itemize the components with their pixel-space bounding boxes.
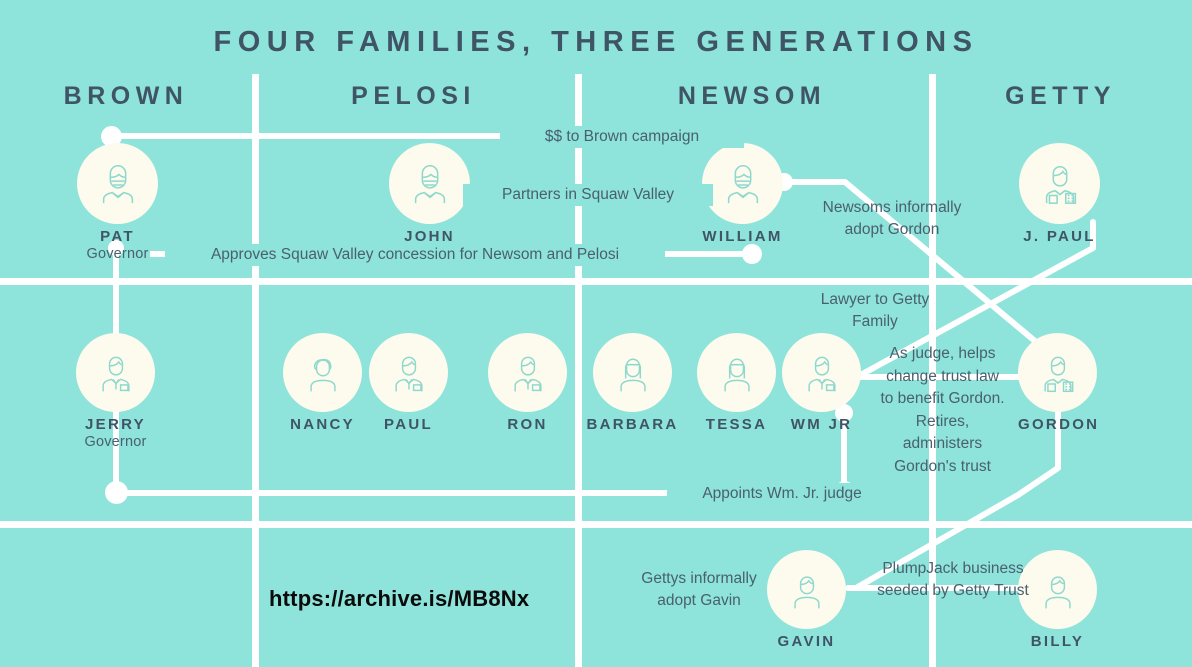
- person-name: JOHN: [352, 228, 507, 245]
- person-tessa[interactable]: TESSA: [697, 333, 776, 433]
- avatar-man-suit-icon: [94, 351, 138, 395]
- archive-url-watermark: https://archive.is/MB8Nx: [269, 586, 529, 612]
- annotation-judge-trust-law: As judge, helps change trust law to bene…: [865, 343, 1020, 478]
- page-title: FOUR FAMILIES, THREE GENERATIONS: [0, 26, 1192, 59]
- avatar-man-bearded-icon: [720, 161, 766, 207]
- annotation-squaw-partners: Partners in Squaw Valley: [463, 184, 713, 206]
- avatar-woman-bangs-icon: [715, 351, 759, 395]
- avatar-man-business-icon: [1037, 161, 1083, 207]
- annotation-lawyer-to-getty: Lawyer to Getty Family: [790, 289, 960, 333]
- avatar-man-business-icon: [1036, 351, 1080, 395]
- annotation-squaw-concession: Approves Squaw Valley concession for New…: [165, 244, 665, 266]
- avatar: [488, 333, 567, 412]
- family-divider-1: [252, 74, 259, 667]
- person-nancy[interactable]: NANCY: [283, 333, 362, 433]
- avatar-woman-bun-icon: [301, 351, 345, 395]
- person-paul[interactable]: PAUL: [369, 333, 448, 433]
- person-name: PAT: [40, 228, 195, 245]
- person-name: GORDON: [1018, 416, 1097, 433]
- avatar: [697, 333, 776, 412]
- annotation-adopt-gavin: Gettys informally adopt Gavin: [613, 568, 785, 612]
- avatar: [1019, 143, 1100, 224]
- avatar: [1018, 333, 1097, 412]
- person-ron[interactable]: RON: [488, 333, 567, 433]
- avatar-man-suit-icon: [800, 351, 844, 395]
- person-name: WM JR: [782, 416, 861, 433]
- avatar: [283, 333, 362, 412]
- family-heading-newsom: NEWSOM: [575, 82, 929, 111]
- avatar-young-man-icon: [785, 568, 829, 612]
- avatar: [593, 333, 672, 412]
- connector-dot-jerry-bottom: [105, 481, 128, 504]
- family-heading-getty: GETTY: [929, 82, 1192, 111]
- annotation-appoints-judge: Appoints Wm. Jr. judge: [667, 483, 897, 505]
- avatar: [76, 333, 155, 412]
- infographic-canvas: FOUR FAMILIES, THREE GENERATIONS BROWN P…: [0, 0, 1192, 667]
- annotation-adopt-gordon: Newsoms informally adopt Gordon: [800, 197, 984, 241]
- avatar-man-bearded-icon: [95, 161, 141, 207]
- person-j-paul[interactable]: J. PAUL: [982, 143, 1137, 245]
- avatar-woman-bangs-icon: [611, 351, 655, 395]
- person-name: J. PAUL: [982, 228, 1137, 245]
- person-jerry[interactable]: JERRY Governor: [38, 333, 193, 450]
- person-barbara[interactable]: BARBARA: [580, 333, 685, 433]
- person-name: JERRY: [38, 416, 193, 433]
- generation-divider-2: [0, 521, 1192, 528]
- person-name: BILLY: [1018, 633, 1097, 650]
- avatar: [389, 143, 470, 224]
- person-role: Governor: [38, 434, 193, 450]
- avatar: [782, 333, 861, 412]
- avatar-man-bearded-icon: [407, 161, 453, 207]
- person-name: GAVIN: [767, 633, 846, 650]
- person-name: RON: [488, 416, 567, 433]
- avatar-man-suit-icon: [506, 351, 550, 395]
- family-heading-brown: BROWN: [0, 82, 252, 111]
- person-name: BARBARA: [580, 416, 685, 433]
- generation-divider-1: [0, 278, 1192, 285]
- person-name: NANCY: [283, 416, 362, 433]
- avatar: [702, 143, 783, 224]
- person-name: WILLIAM: [665, 228, 820, 245]
- person-name: PAUL: [369, 416, 448, 433]
- person-name: TESSA: [697, 416, 776, 433]
- connector-dot-concession-end: [742, 244, 762, 264]
- family-heading-pelosi: PELOSI: [252, 82, 575, 111]
- avatar: [77, 143, 158, 224]
- annotation-plumpjack: PlumpJack business seeded by Getty Trust: [853, 558, 1053, 602]
- annotation-money-to-brown: $$ to Brown campaign: [500, 126, 744, 148]
- person-gordon[interactable]: GORDON: [1018, 333, 1097, 433]
- avatar-man-suit-icon: [387, 351, 431, 395]
- person-wm-jr[interactable]: WM JR: [782, 333, 861, 433]
- avatar: [369, 333, 448, 412]
